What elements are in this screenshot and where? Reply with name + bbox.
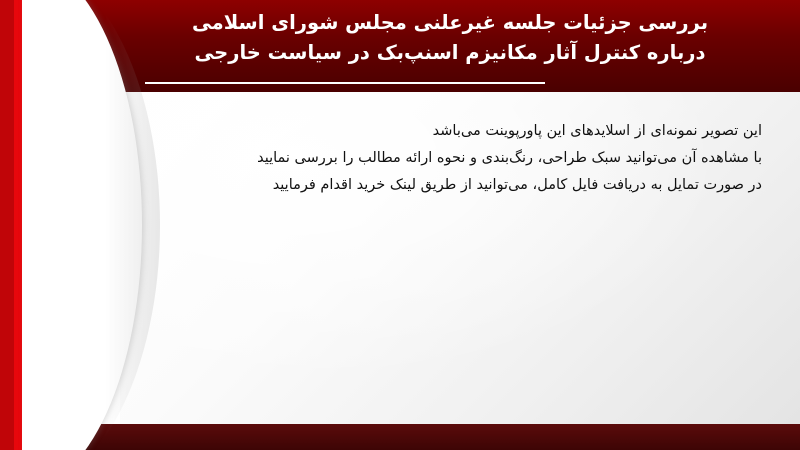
left-red-bar-inner — [0, 0, 14, 450]
title-underline — [145, 82, 545, 84]
slide-title: بررسی جزئیات جلسه غیرعلنی مجلس شورای اسل… — [110, 8, 790, 68]
slide-body: این تصویر نمونه‌ای از اسلایدهای این پاور… — [122, 118, 762, 199]
bottom-band — [0, 424, 800, 450]
slide: بررسی جزئیات جلسه غیرعلنی مجلس شورای اسل… — [0, 0, 800, 450]
body-line-2: با مشاهده آن می‌توانید سبک طراحی، رنگ‌بن… — [122, 145, 762, 172]
body-line-3: در صورت تمایل به دریافت فایل کامل، می‌تو… — [122, 172, 762, 199]
title-line-1: بررسی جزئیات جلسه غیرعلنی مجلس شورای اسل… — [110, 8, 790, 38]
body-line-1: این تصویر نمونه‌ای از اسلایدهای این پاور… — [122, 118, 762, 145]
title-line-2: درباره کنترل آثار مکانیزم اسنپ‌بک در سیا… — [110, 38, 790, 68]
